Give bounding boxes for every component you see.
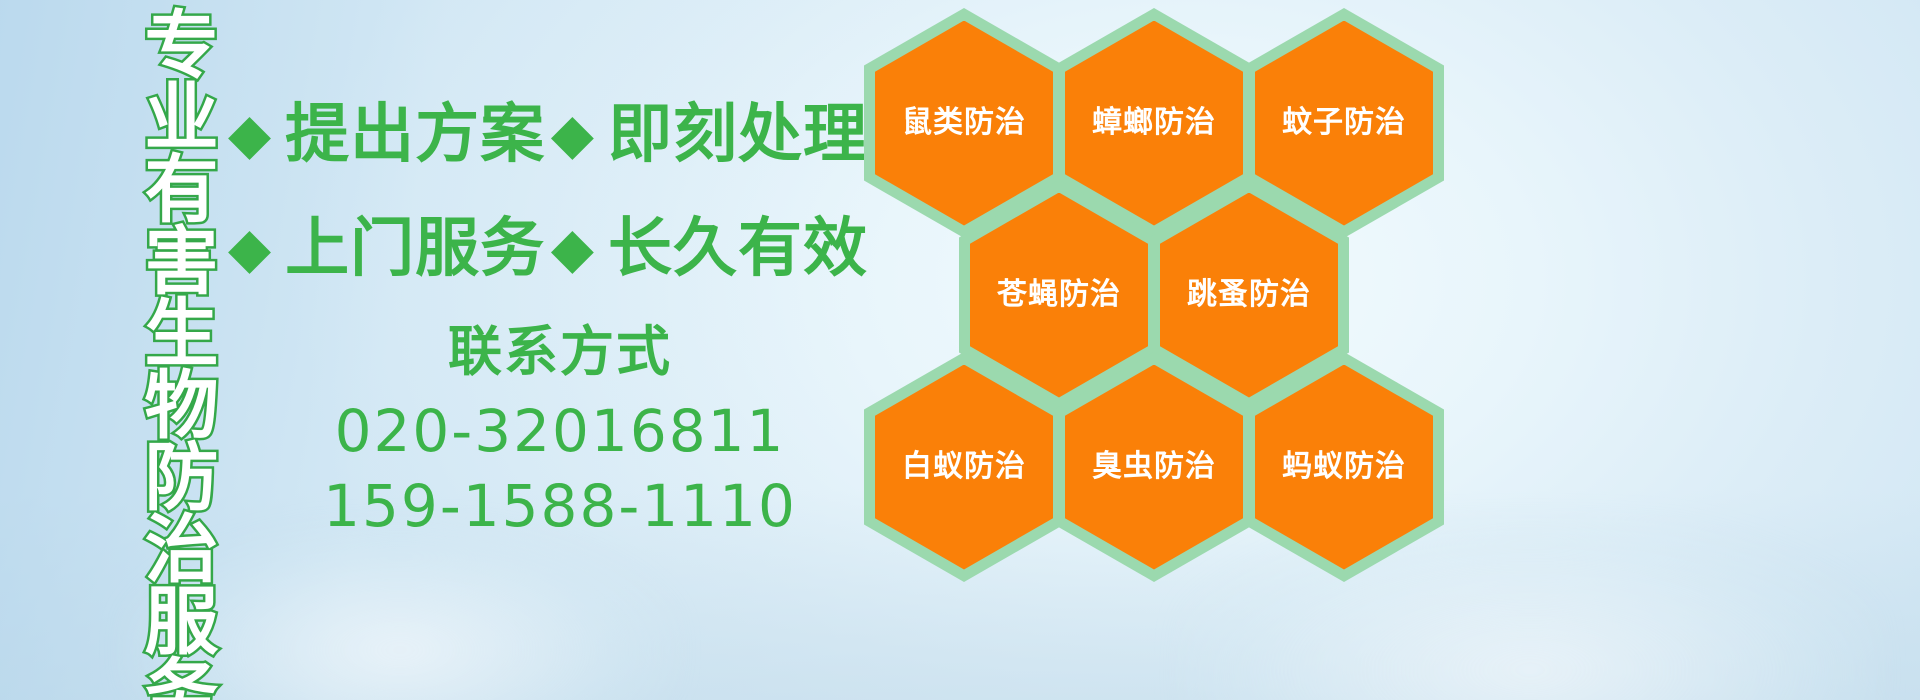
diamond-bullet-icon: ◆ bbox=[551, 221, 594, 277]
slogan-item-3: 上门服务 bbox=[285, 217, 545, 281]
hex-inner: 臭虫防治 bbox=[1065, 365, 1243, 570]
vertical-headline: 专业有害生物防治服务 bbox=[108, 6, 212, 566]
slogan-item-1: 提出方案 bbox=[285, 103, 545, 167]
hex-inner: 鼠类防治 bbox=[875, 21, 1053, 226]
slogan-item-4: 长久有效 bbox=[608, 217, 868, 281]
service-label: 蚂蚁防治 bbox=[1282, 452, 1406, 482]
hex-inner: 白蚁防治 bbox=[875, 365, 1053, 570]
phone-number-landline[interactable]: 020-32016811 bbox=[300, 394, 820, 469]
service-label: 白蚁防治 bbox=[902, 452, 1026, 482]
phone-number-mobile[interactable]: 159-1588-1110 bbox=[300, 469, 820, 544]
contact-block: 联系方式 020-32016811 159-1588-1110 bbox=[300, 318, 820, 544]
hex-inner: 苍蝇防治 bbox=[970, 193, 1148, 398]
pest-control-banner: 专业有害生物防治服务 ◆ 提出方案 ◆ 即刻处理 ◆ 上门服务 ◆ 长久有效 联… bbox=[0, 0, 1920, 700]
hex-inner: 蚂蚁防治 bbox=[1255, 365, 1433, 570]
service-label: 蟑螂防治 bbox=[1092, 108, 1216, 138]
diamond-bullet-icon: ◆ bbox=[228, 221, 271, 277]
hex-inner: 蚊子防治 bbox=[1255, 21, 1433, 226]
slogan-list: ◆ 提出方案 ◆ 即刻处理 ◆ 上门服务 ◆ 长久有效 bbox=[228, 78, 868, 306]
service-label: 鼠类防治 bbox=[902, 108, 1026, 138]
service-honeycomb: 鼠类防治 蟑螂防治 蚊子防治 苍蝇防治 跳蚤防治 白蚁防治 bbox=[858, 0, 1458, 560]
service-label: 臭虫防治 bbox=[1092, 452, 1216, 482]
hex-inner: 跳蚤防治 bbox=[1160, 193, 1338, 398]
contact-title: 联系方式 bbox=[300, 318, 820, 386]
service-label: 苍蝇防治 bbox=[997, 280, 1121, 310]
service-label: 跳蚤防治 bbox=[1187, 280, 1311, 310]
slogan-item-2: 即刻处理 bbox=[608, 103, 868, 167]
diamond-bullet-icon: ◆ bbox=[551, 107, 594, 163]
slogan-row-2: ◆ 上门服务 ◆ 长久有效 bbox=[228, 192, 868, 306]
hex-inner: 蟑螂防治 bbox=[1065, 21, 1243, 226]
slogan-row-1: ◆ 提出方案 ◆ 即刻处理 bbox=[228, 78, 868, 192]
service-label: 蚊子防治 bbox=[1282, 108, 1406, 138]
diamond-bullet-icon: ◆ bbox=[228, 107, 271, 163]
